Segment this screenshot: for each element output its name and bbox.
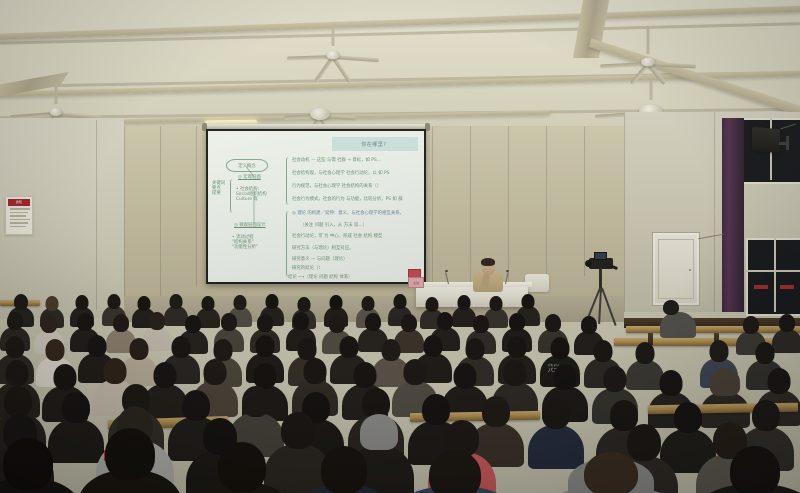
head (77, 313, 93, 331)
fan-hub (326, 51, 340, 60)
wall-notice-line (10, 208, 30, 210)
head (257, 314, 273, 332)
right-wall-corner (714, 112, 715, 312)
window-curtain (722, 118, 744, 312)
head (473, 315, 489, 333)
head (743, 316, 759, 334)
head (330, 295, 343, 310)
front-wall-seam-3 (196, 126, 197, 286)
head (138, 296, 151, 311)
left-wall-seam (96, 120, 97, 310)
front-wall-seam-2 (160, 126, 161, 306)
slide-right-item: 社会结构观，与社会心理学 社会行动论，以 如 PS (292, 171, 389, 176)
slide-header-band: 你在哪里？ (332, 137, 418, 151)
head (362, 296, 375, 311)
head (3, 438, 53, 490)
wall-notice-line (10, 219, 30, 221)
head (256, 335, 275, 357)
speaker-bracket-post (786, 136, 789, 150)
head (401, 314, 417, 332)
head (424, 335, 443, 357)
head (509, 313, 525, 331)
head (298, 297, 311, 312)
wall-notice-line (10, 215, 26, 217)
projection-screen: 你在哪里？ 定义概念 关键词 要点 提要 ◎ 宏观层面 • 社会结构： Soci… (208, 131, 424, 282)
right-wall-corner-2 (624, 112, 625, 312)
video-camera-lens (585, 260, 592, 267)
slide-bullet-2: • 流动过程 "结构关系" "功能性分析" (232, 235, 258, 250)
head (76, 295, 89, 310)
slide-right-item: 社会动机 — 这些 与需 社群 → 目标，如 PS… (292, 158, 381, 163)
head (6, 336, 25, 358)
head (779, 314, 795, 332)
slide-right-item: （关注 问题 引入，从 方法 谈…） (300, 223, 367, 228)
head (218, 442, 266, 492)
slide-bullet-1: • 社会结构： Social组织结构 Culture 等 (236, 187, 267, 202)
ceiling-fan-above-screen (282, 104, 358, 124)
audience-member-foreground-3 (196, 442, 288, 493)
door-knob[interactable] (689, 269, 691, 271)
head (104, 358, 127, 384)
slide-right-item: ◎ 理论 的构建／延伸：意义，与社会心理学的相互关系。 (292, 211, 404, 216)
head (340, 336, 359, 358)
head (88, 335, 107, 357)
slide-right-item: 研究的结论（） (292, 266, 323, 271)
slide-bubble-1: 定义概念 (226, 159, 268, 172)
video-camera-viewfinder (594, 252, 607, 260)
head (429, 450, 481, 493)
audience-member-foreground-2 (84, 428, 176, 493)
wall-notice-line (10, 226, 26, 228)
head (234, 295, 247, 310)
slide-right-item: 研究方法（与理论）相互对应。 (292, 246, 353, 251)
name-placard: 主讲 (408, 277, 424, 288)
head (105, 428, 155, 480)
wall-notice-line (10, 212, 28, 214)
head (394, 294, 407, 309)
audience-member-navy-puffer-vest (400, 450, 510, 493)
head (266, 294, 279, 309)
fan-hub (310, 108, 330, 120)
head (663, 300, 679, 315)
audience-row-3-foreground (0, 424, 800, 493)
head (108, 294, 121, 309)
head (14, 294, 28, 310)
front-wall-seam-8 (584, 126, 585, 276)
fan-hub (641, 58, 655, 67)
fan-downrod (650, 80, 653, 100)
slide-heading-2: ◎ 微观层面设计 (234, 223, 266, 228)
head (170, 294, 183, 309)
head (365, 313, 381, 331)
slide-right-item: 行为规范，与社会心理学 社会结构的关系（） (292, 184, 381, 189)
slide-right-item: 研究意义 — 与问题（理论） (292, 257, 347, 262)
microphone-right-head (506, 270, 509, 272)
ceiling-fan-center (285, 42, 381, 68)
slide-vertical-connector (254, 190, 255, 224)
head (458, 295, 471, 310)
window-red-label-left (754, 285, 768, 289)
head (293, 312, 309, 330)
head (545, 314, 561, 332)
head (46, 296, 59, 311)
wall-notice-line (10, 222, 28, 224)
head (221, 313, 237, 331)
fan-downrod (55, 86, 58, 104)
head (329, 315, 345, 333)
audience-member-foreground-4 (300, 446, 388, 493)
fan-blade (648, 62, 696, 69)
head (730, 446, 780, 493)
head (172, 336, 191, 358)
slide-right-item: 结论 ⟶（理论 问题 结构 体系） (288, 275, 353, 280)
head (522, 294, 535, 309)
head (41, 315, 57, 333)
speaker-table-top (412, 282, 532, 287)
wall-speaker (752, 127, 780, 153)
front-wall-seam-5 (470, 126, 471, 296)
head (437, 312, 453, 330)
slide-right-item: 社会行为模式，社会的行为 与功能，比较分析，PS 如 群 (292, 197, 403, 202)
head (490, 296, 503, 311)
window-red-label-right (780, 285, 794, 289)
front-wall-seam-6 (508, 126, 509, 291)
audience-member-foreground-right (700, 446, 800, 493)
front-wall-seam-1 (124, 126, 125, 306)
head (321, 446, 367, 493)
head (149, 312, 165, 330)
head (185, 315, 201, 333)
slide-note-left-1: 关键词 要点 提要 (212, 181, 225, 196)
fan-hub (50, 108, 63, 116)
lecture-hall-photo: 通知 你在哪里？ 定义概念 关键词 要点 提 (0, 0, 800, 493)
head (508, 336, 527, 358)
head (581, 316, 597, 334)
fan-downrod (647, 26, 650, 54)
fan-downrod (332, 24, 335, 46)
projection-screen-frame: 你在哪里？ 定义概念 关键词 要点 提要 ◎ 宏观层面 • 社会结构： Soci… (206, 129, 426, 284)
head (426, 297, 439, 312)
head (202, 296, 215, 311)
window-mullion-horizontal (746, 270, 800, 272)
slide-heading-1: ◎ 宏观层面 (238, 175, 261, 180)
lecturer-hair (481, 258, 495, 266)
wall-notice-header: 通知 (8, 199, 30, 206)
wall-notice: 通知 (5, 196, 33, 235)
audience-member-grey-hoodie (546, 452, 676, 493)
slide-right-item: 社会行动论，可 为 中心，形成 社会 结构 模型 (292, 234, 382, 239)
front-wall-seam-7 (546, 126, 547, 286)
head (7, 312, 23, 330)
ceiling-fan-right-upper (598, 50, 698, 74)
audience-member-foreground-left (0, 438, 76, 493)
head (584, 452, 638, 493)
head (304, 358, 327, 384)
front-wall-seam-4 (432, 126, 433, 296)
microphone-left-head (445, 270, 448, 272)
head (113, 314, 129, 332)
